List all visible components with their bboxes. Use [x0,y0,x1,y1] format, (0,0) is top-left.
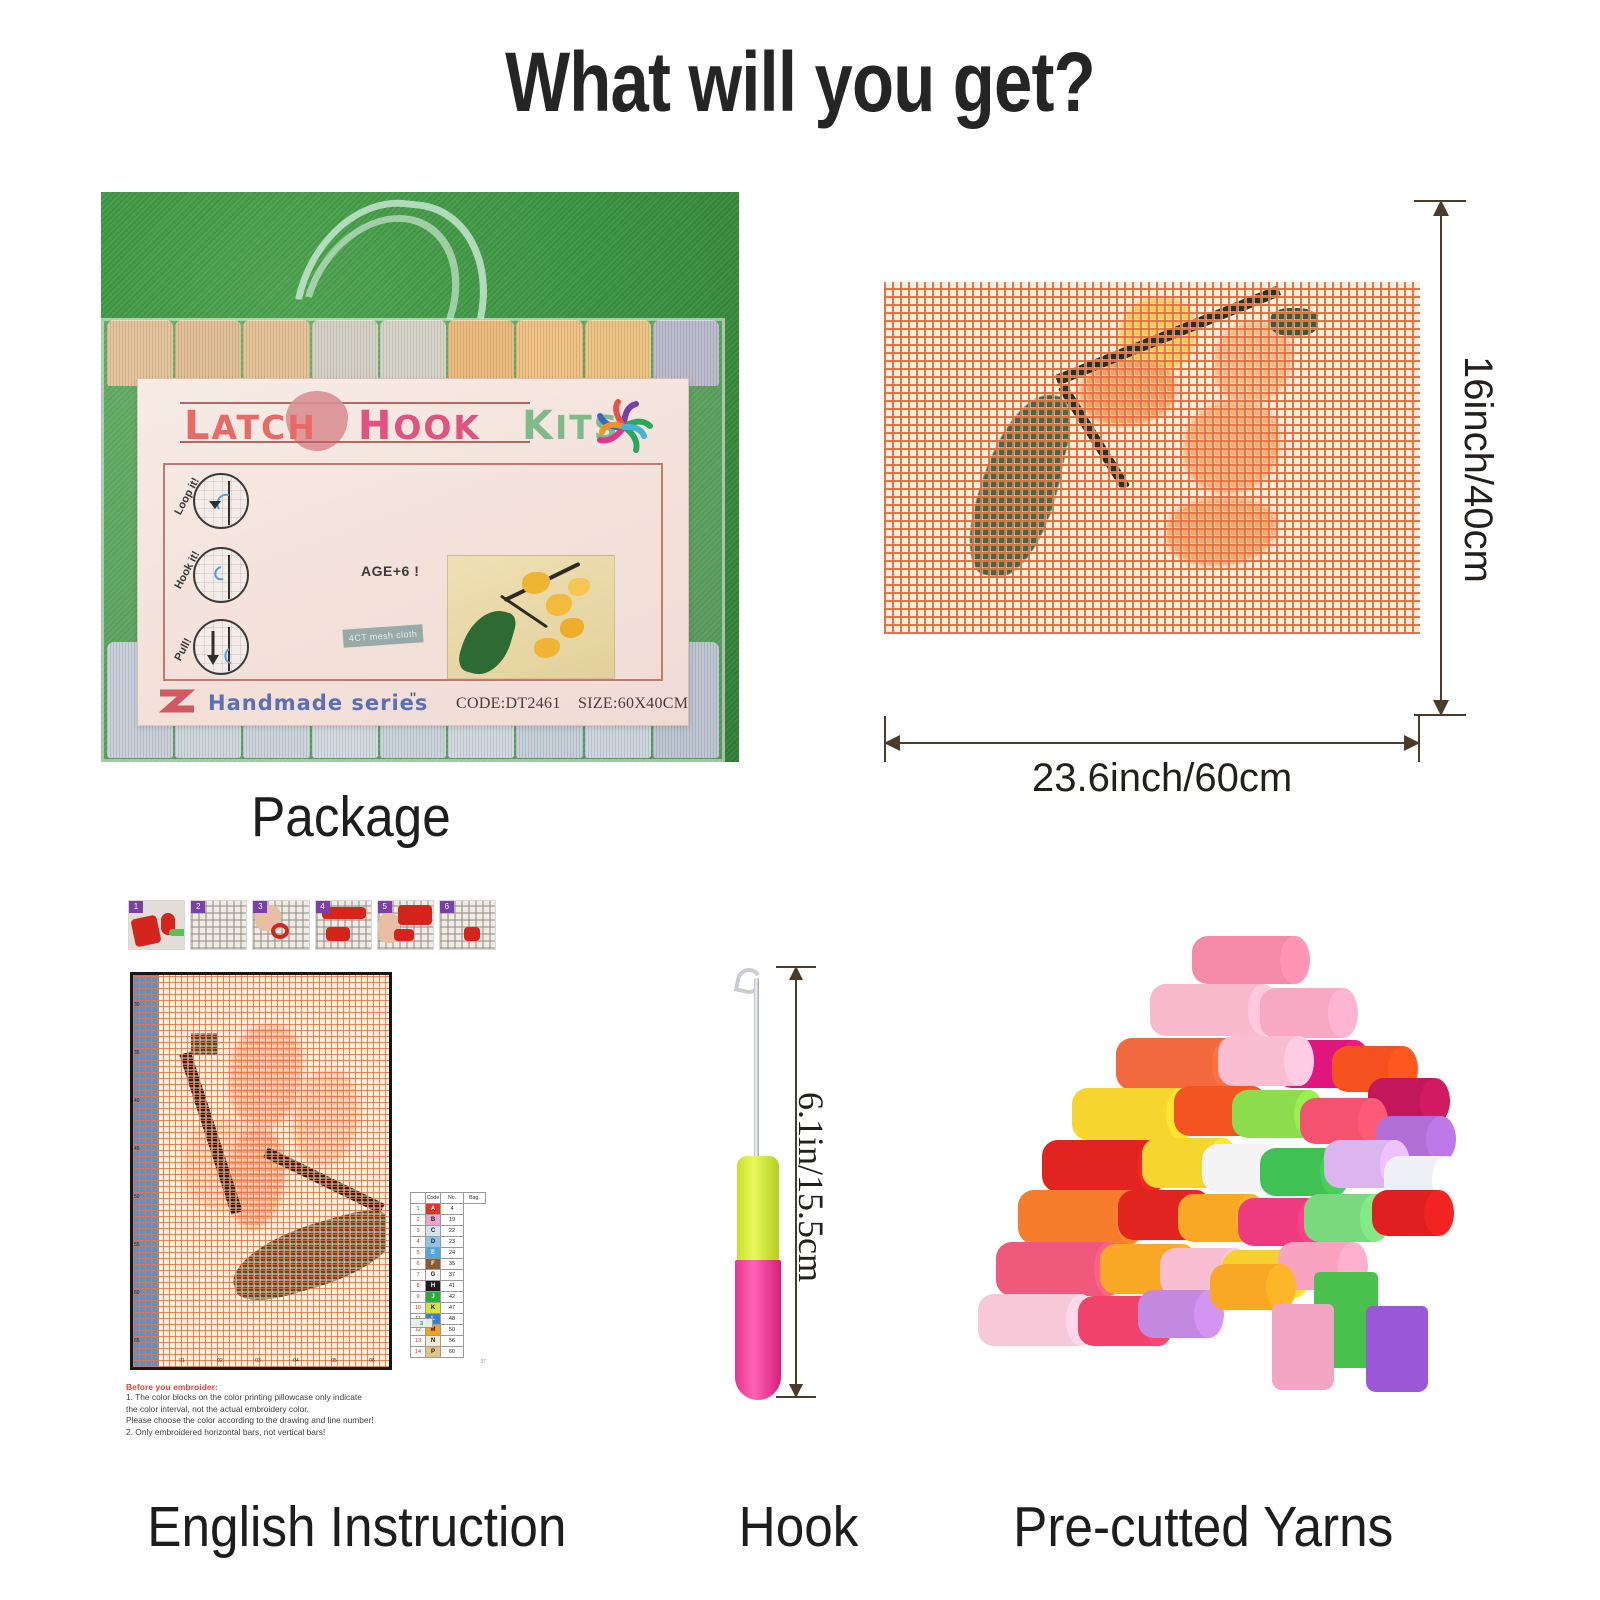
product-code: CODE:DT2461 [456,695,561,713]
dim-line-horizontal [888,742,1416,744]
mesh-canvas [884,282,1420,634]
legend-cell-no: 4 [441,1204,464,1215]
legend-header-index [411,1193,426,1204]
hook-dim-arrow-down [789,1384,803,1398]
legend-cell-index: 2 [411,1215,426,1226]
yarn-roll [978,1294,1094,1346]
legend-cell-index: 7 [411,1270,426,1281]
legend-cell-no: 22 [441,1226,464,1237]
hook-latch-icon [734,966,765,997]
legend-header-no: No. [441,1193,464,1204]
legend-cell-no: 35 [441,1259,464,1270]
preview-flower [560,618,584,638]
pinwheel-logo-icon [590,396,658,458]
legend-row: 4D235 [411,1237,486,1248]
page-title: What will you get? [144,34,1456,131]
legend-cell-code: N [426,1336,441,1347]
product-size: SIZE:60X40CM [578,695,688,713]
thumb-badge: 6 [440,901,454,913]
yarn-roll [1300,1098,1386,1144]
instruction-thumbnail: 6 [439,900,496,950]
instruction-thumbnail-row: 1 2 3 4 5 [128,900,496,950]
instruction-thumbnail: 1 [128,900,185,950]
color-legend: Code No. Bag. 1A422B1913C2244D2355E2426F… [410,1192,486,1365]
dim-arrow-down [1433,700,1449,716]
legend-cell-code: G [426,1270,441,1281]
legend-cell-index: 6 [411,1259,426,1270]
caption-pre-cutted-yarns: Pre-cutted Yarns [1013,1494,1393,1560]
legend-row: 5E242 [411,1248,486,1259]
mesh-cloth-banner: 4CT mesh cloth [342,624,423,648]
legend-cell-no: 60 [441,1347,464,1358]
step-3-label: Pull! [172,636,194,663]
instruction-thumbnail: 2 [190,900,247,950]
legend-row: 3C224 [411,1226,486,1237]
before-note-line: the color interval, not the actual embro… [126,1404,426,1416]
thumb-badge: 2 [191,901,205,913]
legend-cell-no: 19 [441,1215,464,1226]
legend-row: 9J421 [411,1292,486,1303]
yarn-roll [1372,1190,1452,1236]
quote-mark: " [410,689,416,709]
instruction-thumbnail: 5 [377,900,434,950]
legend-cell-code: B [426,1215,441,1226]
preview-flower [546,594,572,616]
legend-cell-index: 9 [411,1292,426,1303]
legend-header-code: Code [426,1193,441,1204]
legend-cell-index: 5 [411,1248,426,1259]
before-note-line: 1. The color blocks on the color printin… [126,1392,426,1404]
preview-leaf [456,603,519,679]
legend-row: 1A42 [411,1204,486,1215]
yarn-roll [1260,988,1356,1038]
legend-row: 10K473 [411,1303,486,1314]
thumb-badge: 3 [253,901,267,913]
legend-cell-no: 56 [441,1336,464,1347]
mesh-canvas-photo [884,282,1420,634]
canvas-leaf [961,384,1077,586]
caption-english-instruction: English Instruction [147,1494,566,1560]
color-legend-table: Code No. Bag. 1A422B1913C2244D2355E2426F… [410,1192,486,1358]
legend-cell-index: 14 [411,1347,426,1358]
legend-row: 8H413 [411,1281,486,1292]
legend-cell-no: 47 [441,1303,464,1314]
legend-cell-no: 48 [441,1314,464,1325]
chart-x-ticks: 010203040506 [163,1358,391,1368]
hook-length-label: 6.1in/15.5cm [790,1092,832,1282]
legend-cell-code: A [426,1204,441,1215]
before-note-line: 2. Only embroidered horizontal bars, not… [126,1427,426,1439]
dim-arrow-left [884,735,900,751]
legend-cell-index: 3 [411,1226,426,1237]
legend-cell-index: 4 [411,1237,426,1248]
package-label-card: LATCH HOOK KITS [137,378,689,726]
legend-row: 6F352 [411,1259,486,1270]
age-recommendation: AGE+6 ! [361,563,419,579]
zigzag-brand-icon [156,687,198,721]
label-footer: Handmade series " CODE:DT2461 SIZE:60X40… [138,685,688,727]
hook-handle-top [737,1156,779,1264]
legend-cell-no: 23 [441,1237,464,1248]
dim-arrow-right [1404,735,1420,751]
legend-cell-code: H [426,1281,441,1292]
legend-row: 13N562 [411,1336,486,1347]
preview-flower [522,572,550,594]
legend-row: 14P603 [411,1347,486,1358]
caption-package: Package [251,784,451,850]
instruction-thumbnail: 3 [252,900,309,950]
yarn-roll [1192,936,1308,984]
design-preview-image [447,555,615,679]
legend-row: 2B191 [411,1215,486,1226]
canvas-height-label: 16inch/40cm [1455,356,1500,583]
legend-cell-no: 42 [441,1292,464,1303]
legend-cell-code: C [426,1226,441,1237]
package-photo: LATCH HOOK KITS [101,192,739,762]
legend-body: 1A422B1913C2244D2355E2426F3527G3728H4139… [411,1204,486,1358]
chart-grid-overlay [133,975,389,1367]
thumb-badge: 5 [378,901,392,913]
legend-cell-code: J [426,1292,441,1303]
legend-total: 37 [410,1359,486,1365]
canvas-leaf-tip [1270,308,1318,336]
preview-flower [568,578,590,596]
before-note-line: Please choose the color according to the… [126,1415,426,1427]
label-title: LATCH HOOK KITS [184,403,544,449]
canvas-flower [1166,498,1276,566]
legend-cell-code: K [426,1303,441,1314]
preview-flower [534,638,560,658]
hook-handle-bottom [735,1260,781,1400]
canvas-flower [1184,402,1280,494]
label-instruction-box: Loop it! Hook it! Pull! AGE+6 ! [163,463,663,681]
before-you-embroider-note: Before you embroider: 1. The color block… [126,1382,426,1438]
legend-cell-bag: 3 [410,1318,433,1328]
legend-cell-index: 10 [411,1303,426,1314]
yarn-vial [1272,1304,1334,1390]
legend-cell-no: 24 [441,1248,464,1259]
legend-cell-index: 1 [411,1204,426,1215]
legend-cell-no: 50 [441,1325,464,1336]
legend-cell-code: D [426,1237,441,1248]
instruction-sheet: 1 2 3 4 5 [124,900,500,1460]
legend-header-row: Code No. Bag. [411,1193,486,1204]
legend-cell-code: F [426,1259,441,1270]
legend-cell-no: 41 [441,1281,464,1292]
legend-cell-index: 13 [411,1336,426,1347]
before-note-title: Before you embroider: [126,1382,426,1392]
thumb-badge: 4 [316,901,330,913]
legend-cell-code: E [426,1248,441,1259]
legend-cell-index: 8 [411,1281,426,1292]
yarn-roll [1218,1036,1312,1086]
dim-line-vertical [1440,204,1442,712]
yarn-vial [1366,1306,1428,1392]
caption-hook: Hook [739,1494,859,1560]
thumb-badge: 1 [129,901,143,913]
brand-name: Handmade series [208,691,428,715]
step-pull-diagram [193,619,249,675]
pattern-chart: 010203040506 3035404550556065 [130,972,392,1370]
legend-cell-code: P [426,1347,441,1358]
hook-dim-arrow-up [789,966,803,980]
legend-row: 7G372 [411,1270,486,1281]
dim-arrow-up [1433,200,1449,216]
legend-header-bag: Bag. [464,1193,486,1204]
chart-y-ticks: 3035404550556065 [134,981,158,1365]
canvas-width-label: 23.6inch/60cm [1032,756,1292,801]
instruction-thumbnail: 4 [315,900,372,950]
legend-cell-no: 37 [441,1270,464,1281]
yarns-photo [960,928,1470,1378]
yarn-roll [1150,984,1276,1036]
